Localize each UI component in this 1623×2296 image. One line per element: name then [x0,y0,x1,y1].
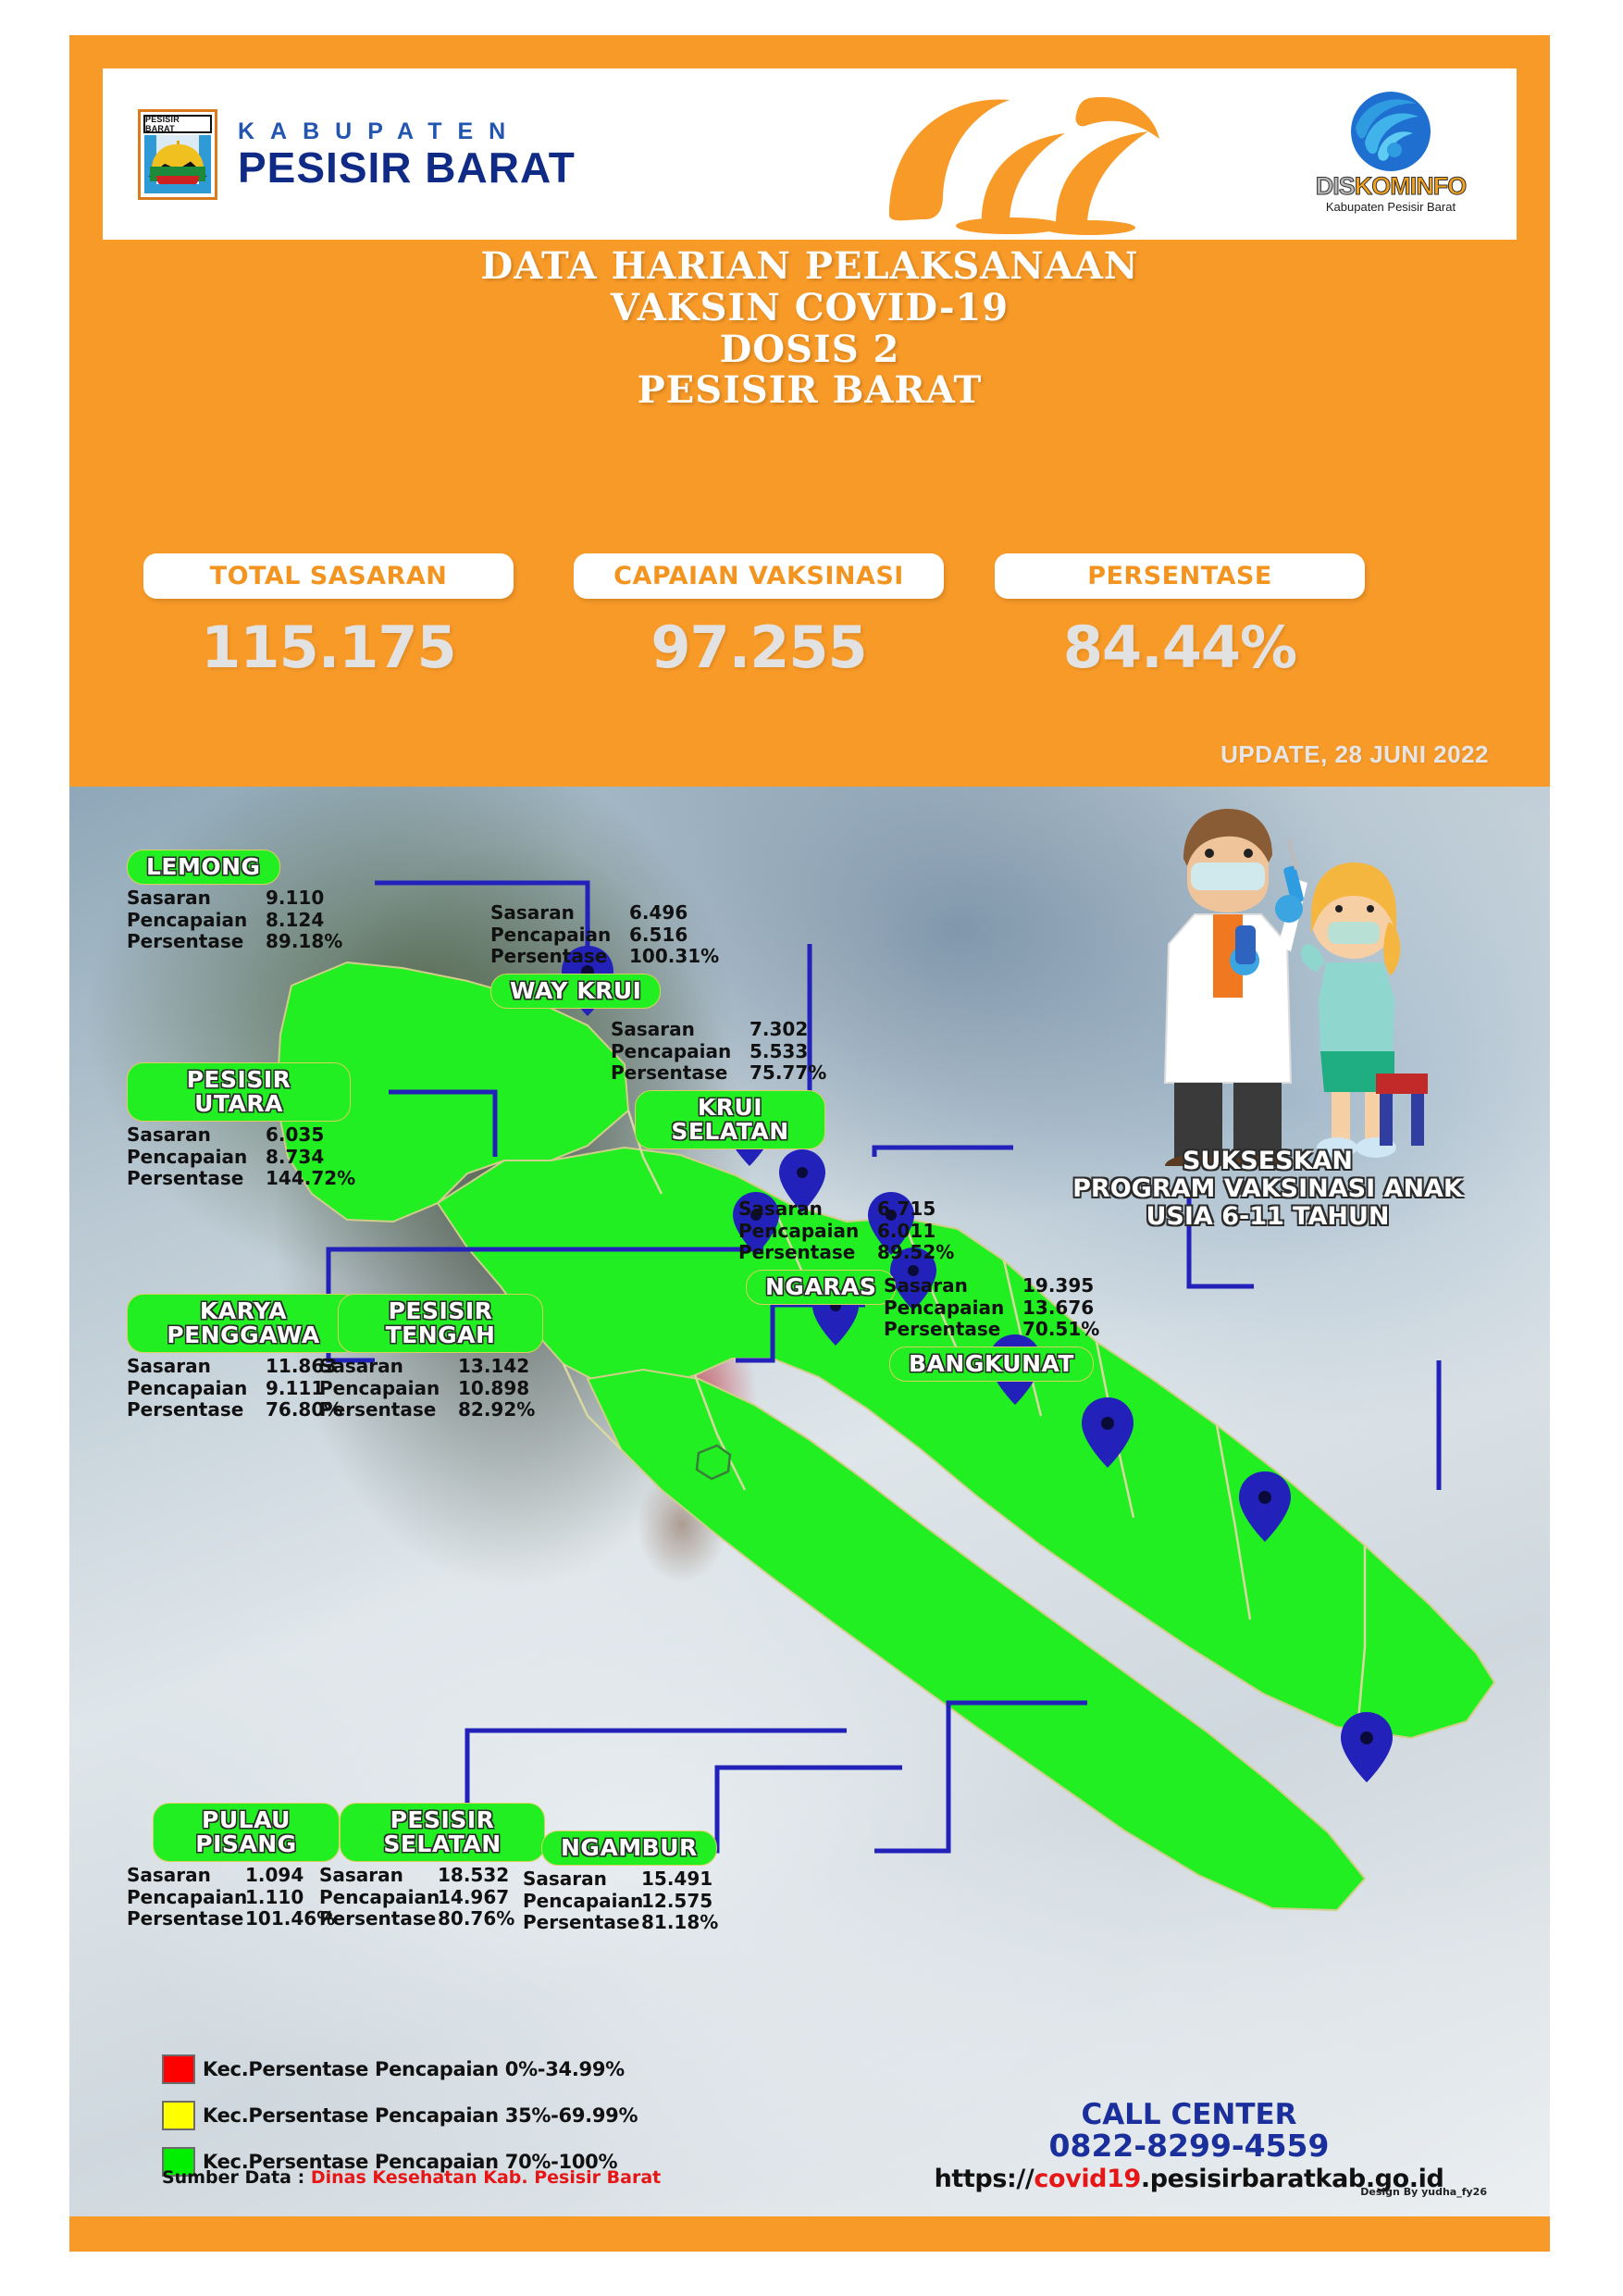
doctor-figure [1165,809,1307,1166]
district-info-krui-selatan: Sasaran7.302 Pencapaian5.533 Persentase7… [611,1016,826,1149]
district-badge: PULAU PISANG [153,1803,340,1862]
district-badge: NGARAS [746,1270,896,1305]
title-line-2: VAKSIN COVID-19 [69,288,1550,329]
legend-label: Kec.Persentase Pencapaian 35%-69.99% [203,2104,638,2127]
district-info-pesisir-tengah: PESISIR TENGAH Sasaran13.142 Pencapaian1… [319,1294,543,1421]
row-label-sasaran: Sasaran [884,1275,1022,1297]
regency-crest-icon: PESISIR BARAT [138,109,217,200]
poster-frame: PESISIR BARAT KABUPATEN PESISIR BARAT [69,35,1550,2252]
row-value-persentase: 82.92% [458,1399,535,1421]
row-label-persentase: Persentase [127,931,266,953]
row-label-pencapaian: Pencapaian [127,1887,245,1909]
row-value-persentase: 80.76% [438,1908,514,1930]
district-name-line: PESISIR [389,1297,493,1324]
row-value-sasaran: 6.496 [629,902,688,925]
legend-swatch-yellow [162,2101,195,2130]
regency-name-block: KABUPATEN PESISIR BARAT [238,120,576,189]
district-name-line: PESISIR [390,1806,495,1833]
row-label-pencapaian: Pencapaian [523,1891,641,1913]
row-label-pencapaian: Pencapaian [319,1887,438,1909]
page-title: DATA HARIAN PELAKSANAAN VAKSIN COVID-19 … [69,246,1550,412]
data-source: Sumber Data : Dinas Kesehatan Kab. Pesis… [162,2167,661,2188]
district-name-line: NGARAS [765,1273,876,1300]
district-badge: NGAMBUR [541,1831,717,1866]
row-value-sasaran: 15.491 [641,1868,712,1891]
row-value-pencapaian: 8.124 [266,910,324,932]
row-label-persentase: Persentase [611,1062,750,1085]
district-info-pulau-pisang: PULAU PISANG Sasaran1.094 Pencapaian1.11… [127,1803,340,1930]
district-badge: LEMONG [127,850,280,885]
stat-total-sasaran: TOTAL SASARAN 115.175 [143,553,514,681]
district-badge: BANGKUNAT [889,1347,1094,1382]
row-value-pencapaian: 14.967 [438,1887,509,1909]
row-label-pencapaian: Pencapaian [127,1147,266,1169]
call-center-title: CALL CENTER [902,2101,1476,2130]
summary-stats: TOTAL SASARAN 115.175 CAPAIAN VAKSINASI … [125,553,1494,720]
row-label-pencapaian: Pencapaian [127,910,266,932]
district-info-lemong: LEMONG Sasaran9.110 Pencapaian8.124 Pers… [127,850,342,953]
row-label-pencapaian: Pencapaian [319,1378,458,1400]
row-label-sasaran: Sasaran [490,902,629,925]
kominfo-subtitle: Kabupaten Pesisir Barat [1307,200,1474,214]
row-value-persentase: 75.77% [750,1062,826,1085]
district-badge: KRUI SELATAN [635,1090,825,1149]
url-prefix: https:// [935,2165,1035,2193]
kominfo-dis-text: DIS [1316,172,1355,200]
row-label-persentase: Persentase [490,946,629,968]
vaccination-illustration [1106,787,1439,1166]
row-value-pencapaian: 10.898 [458,1378,529,1400]
call-center-number: 0822-8299-4559 [902,2130,1476,2162]
stat-label: PERSENTASE [1087,562,1272,590]
designer-credit: Design By yudha_fy26 [1360,2186,1487,2198]
diskominfo-logo: DISKOMINFO Kabupaten Pesisir Barat [1307,91,1474,214]
row-label-sasaran: Sasaran [127,1356,266,1378]
update-date: UPDATE, 28 JUNI 2022 [1220,740,1489,769]
district-name-line-2: SELATAN [383,1831,501,1857]
row-label-pencapaian: Pencapaian [127,1378,266,1400]
district-name-line-2: UTARA [194,1090,283,1117]
row-value-pencapaian: 6.516 [629,925,688,947]
row-label-persentase: Persentase [319,1908,438,1930]
legend-item-yellow: Kec.Persentase Pencapaian 35%-69.99% [162,2101,638,2130]
district-badge: PESISIR UTARA [127,1062,351,1122]
row-value-sasaran: 13.142 [458,1356,529,1378]
regency-logo-block: PESISIR BARAT KABUPATEN PESISIR BARAT [138,109,576,200]
row-value-sasaran: 6.035 [266,1124,324,1147]
row-value-pencapaian: 12.575 [641,1891,712,1913]
child-figure [1301,863,1428,1158]
district-name-line: BANGKUNAT [909,1350,1074,1377]
url-highlight: covid19 [1034,2165,1141,2193]
row-value-pencapaian: 5.533 [750,1041,808,1063]
district-name-line: LEMONG [146,853,261,880]
row-value-persentase: 89.52% [877,1242,954,1264]
row-value-sasaran: 1.094 [245,1865,304,1887]
district-name-line-2: PISANG [195,1831,296,1857]
row-label-sasaran: Sasaran [127,1865,245,1887]
row-label-pencapaian: Pencapaian [611,1041,750,1063]
source-value: Dinas Kesehatan Kab. Pesisir Barat [311,2167,661,2188]
district-info-bangkunat: Sasaran19.395 Pencapaian13.676 Persentas… [884,1272,1099,1382]
district-name-line: NGAMBUR [561,1834,698,1861]
row-value-persentase: 100.31% [629,946,719,968]
legend-swatch-red [162,2054,195,2084]
row-value-sasaran: 19.395 [1022,1275,1094,1297]
row-value-pencapaian: 1.110 [245,1887,304,1909]
row-label-sasaran: Sasaran [319,1865,438,1887]
regency-name: PESISIR BARAT [238,146,576,189]
district-name-line: PESISIR [187,1066,291,1093]
district-badge: WAY KRUI [490,974,661,1009]
district-name-line: WAY KRUI [510,977,641,1004]
row-label-sasaran: Sasaran [523,1868,641,1891]
row-value-pencapaian: 6.011 [877,1221,935,1243]
district-name-line: KARYA [200,1297,287,1324]
row-value-sasaran: 18.532 [438,1865,509,1887]
stat-persentase: PERSENTASE 84.44% [995,553,1365,681]
row-value-sasaran: 7.302 [750,1019,808,1041]
illustration-caption: SUKSESKAN PROGRAM VAKSINASI ANAK USIA 6-… [1050,1148,1485,1232]
legend-item-red: Kec.Persentase Pencapaian 0%-34.99% [162,2054,638,2084]
row-label-persentase: Persentase [319,1399,458,1421]
row-label-persentase: Persentase [127,1908,245,1930]
stat-value: 115.175 [143,614,514,681]
district-info-ngambur: NGAMBUR Sasaran15.491 Pencapaian12.575 P… [523,1831,718,1934]
title-line-3: DOSIS 2 [69,329,1550,371]
district-name-line-2: TENGAH [386,1322,496,1348]
stat-label: TOTAL SASARAN [210,562,448,590]
stat-value: 97.255 [574,614,944,681]
row-value-persentase: 70.51% [1022,1319,1099,1341]
map-panel: LEMONG Sasaran9.110 Pencapaian8.124 Pers… [69,787,1550,2216]
crest-label: PESISIR BARAT [145,115,210,133]
row-label-sasaran: Sasaran [127,887,266,910]
row-label-pencapaian: Pencapaian [738,1221,877,1243]
row-label-pencapaian: Pencapaian [884,1297,1022,1320]
district-info-pesisir-utara: PESISIR UTARA Sasaran6.035 Pencapaian8.7… [127,1062,355,1190]
kominfo-kominfo-text: KOMINFO [1355,172,1467,200]
row-label-sasaran: Sasaran [738,1198,877,1221]
row-value-persentase: 144.72% [266,1168,355,1190]
district-info-way-krui: Sasaran6.496 Pencapaian6.516 Persentase1… [490,900,719,1009]
source-prefix: Sumber Data : [162,2167,311,2188]
district-name-line-2: SELATAN [671,1118,788,1145]
stat-capaian-vaksinasi: CAPAIAN VAKSINASI 97.255 [574,553,944,681]
row-value-persentase: 89.18% [266,931,342,953]
row-label-persentase: Persentase [884,1319,1022,1341]
title-line-4: PESISIR BARAT [69,370,1550,412]
caption-line-3: USIA 6-11 TAHUN [1050,1203,1485,1231]
call-center-block: CALL CENTER 0822-8299-4559 https://covid… [902,2101,1476,2193]
row-label-sasaran: Sasaran [319,1356,458,1378]
district-badge: PESISIR SELATAN [340,1803,545,1862]
row-label-sasaran: Sasaran [611,1019,750,1041]
globe-swirl-icon [1350,91,1431,172]
row-value-pencapaian: 8.734 [266,1147,324,1169]
district-name-line: PULAU [202,1806,291,1833]
row-value-persentase: 81.18% [641,1912,718,1934]
district-name-line: KRUI [698,1094,762,1121]
caption-line-1: SUKSESKAN [1050,1148,1485,1175]
row-label-persentase: Persentase [127,1168,266,1190]
row-label-persentase: Persentase [738,1242,877,1264]
row-label-persentase: Persentase [127,1399,266,1421]
header-bar: PESISIR BARAT KABUPATEN PESISIR BARAT [103,68,1517,240]
title-line-1: DATA HARIAN PELAKSANAAN [69,246,1550,288]
legend-label: Kec.Persentase Pencapaian 0%-34.99% [203,2058,625,2080]
row-value-sasaran: 6.715 [877,1198,935,1221]
kabupaten-label: KABUPATEN [238,120,576,143]
row-label-persentase: Persentase [523,1912,641,1934]
stat-value: 84.44% [995,614,1365,681]
district-info-pesisir-selatan: PESISIR SELATAN Sasaran18.532 Pencapaian… [319,1803,545,1930]
row-value-pencapaian: 9.111 [266,1378,324,1400]
row-label-sasaran: Sasaran [127,1124,266,1147]
stat-label: CAPAIAN VAKSINASI [613,562,904,590]
row-label-pencapaian: Pencapaian [490,925,629,947]
district-name-line-2: PENGGAWA [167,1322,319,1348]
batik-ornament-icon [871,85,1176,238]
district-badge: PESISIR TENGAH [338,1294,543,1353]
row-value-sasaran: 9.110 [266,887,324,910]
caption-line-2: PROGRAM VAKSINASI ANAK [1050,1175,1485,1203]
row-value-pencapaian: 13.676 [1022,1297,1094,1320]
